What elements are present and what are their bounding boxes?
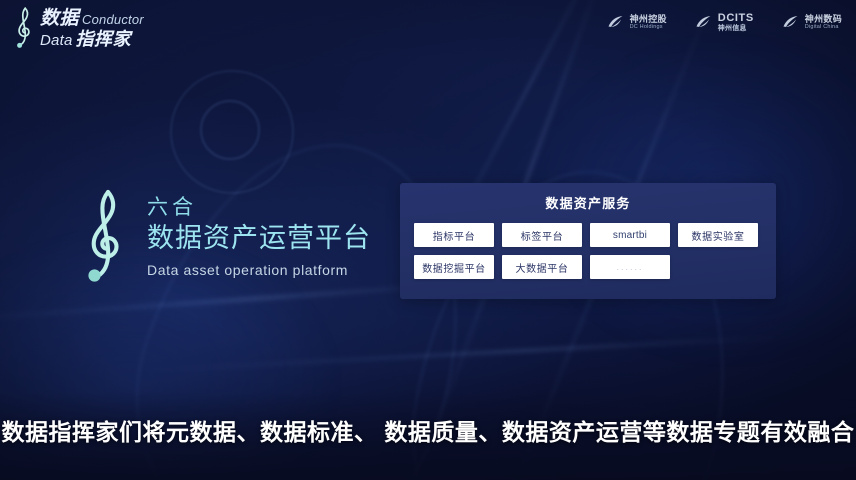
partner-dc-holdings: 神州控股 DC Holdings	[605, 12, 667, 32]
brand-row-2: Data 指挥家	[40, 30, 144, 48]
service-card-big-data-platform[interactable]: 大数据平台	[502, 255, 582, 279]
brand-text: 数据 Conductor Data 指挥家	[40, 9, 144, 48]
partner-dcits-en: 神州信息	[718, 25, 754, 33]
service-card-metric-platform[interactable]: 指标平台	[414, 223, 494, 247]
partner-logo-group: 神州控股 DC Holdings DCITS 神州信息 神州数码	[605, 12, 842, 33]
partner-dcits-cn: DCITS	[718, 12, 754, 25]
violin-string-1	[0, 282, 460, 323]
slide-canvas: 数据 Conductor Data 指挥家 神州控股 DC Holdings	[0, 0, 856, 480]
partner-dcits-label: DCITS 神州信息	[718, 12, 754, 33]
platform-title-sub: Data asset operation platform	[147, 262, 371, 278]
treble-clef-icon	[75, 186, 139, 286]
partner-dc-holdings-en: DC Holdings	[630, 24, 667, 30]
service-card-more-placeholder[interactable]: ......	[590, 255, 670, 279]
partner-dc-holdings-cn: 神州控股	[630, 14, 667, 24]
brand-line2-en: Data	[40, 33, 73, 48]
brand-row-1: 数据 Conductor	[40, 9, 144, 28]
partner-digital-china-en: Digital China	[805, 24, 842, 30]
caption-text: 数据指挥家们将元数据、数据标准、 数据质量、数据资产运营等数据专题有效融合	[2, 413, 855, 447]
partner-dc-holdings-label: 神州控股 DC Holdings	[630, 14, 667, 31]
violin-string-2	[140, 335, 779, 372]
service-card-data-lab[interactable]: 数据实验室	[678, 223, 758, 247]
caption-bar: 数据指挥家们将元数据、数据标准、 数据质量、数据资产运营等数据专题有效融合	[0, 392, 856, 480]
dcits-swirl-icon	[693, 12, 713, 32]
partner-digital-china-label: 神州数码 Digital China	[805, 14, 842, 31]
violin-scroll-inner	[200, 100, 260, 160]
partner-digital-china-cn: 神州数码	[805, 14, 842, 24]
platform-title-main: 数据资产运营平台	[147, 222, 371, 256]
service-card-smartbi[interactable]: smartbi	[590, 223, 670, 247]
partner-digital-china: 神州数码 Digital China	[780, 12, 842, 32]
service-card-data-mining-platform[interactable]: 数据挖掘平台	[414, 255, 494, 279]
top-bar: 数据 Conductor Data 指挥家 神州控股 DC Holdings	[0, 0, 856, 58]
platform-title-text: 六合 数据资产运营平台 Data asset operation platfor…	[147, 195, 371, 278]
platform-title-small: 六合	[147, 195, 371, 221]
data-asset-service-panel: 数据资产服务 指标平台 标签平台 smartbi 数据实验室 数据挖掘平台 大数…	[400, 183, 776, 299]
service-card-grid: 指标平台 标签平台 smartbi 数据实验室 数据挖掘平台 大数据平台 ...…	[400, 212, 776, 279]
violin-scroll-outer	[170, 70, 294, 194]
dc-holdings-swirl-icon	[605, 12, 625, 32]
platform-title-block: 六合 数据资产运营平台 Data asset operation platfor…	[75, 186, 371, 286]
brand-logo: 数据 Conductor Data 指挥家	[12, 6, 144, 50]
brand-line1-en: Conductor	[82, 13, 144, 26]
digital-china-swirl-icon	[780, 12, 800, 32]
panel-heading: 数据资产服务	[400, 183, 776, 212]
partner-dcits: DCITS 神州信息	[693, 12, 754, 33]
brand-line1-cn: 数据	[40, 9, 79, 28]
brand-line2-cn: 指挥家	[76, 30, 132, 48]
treble-clef-icon	[12, 6, 38, 50]
service-card-tag-platform[interactable]: 标签平台	[502, 223, 582, 247]
